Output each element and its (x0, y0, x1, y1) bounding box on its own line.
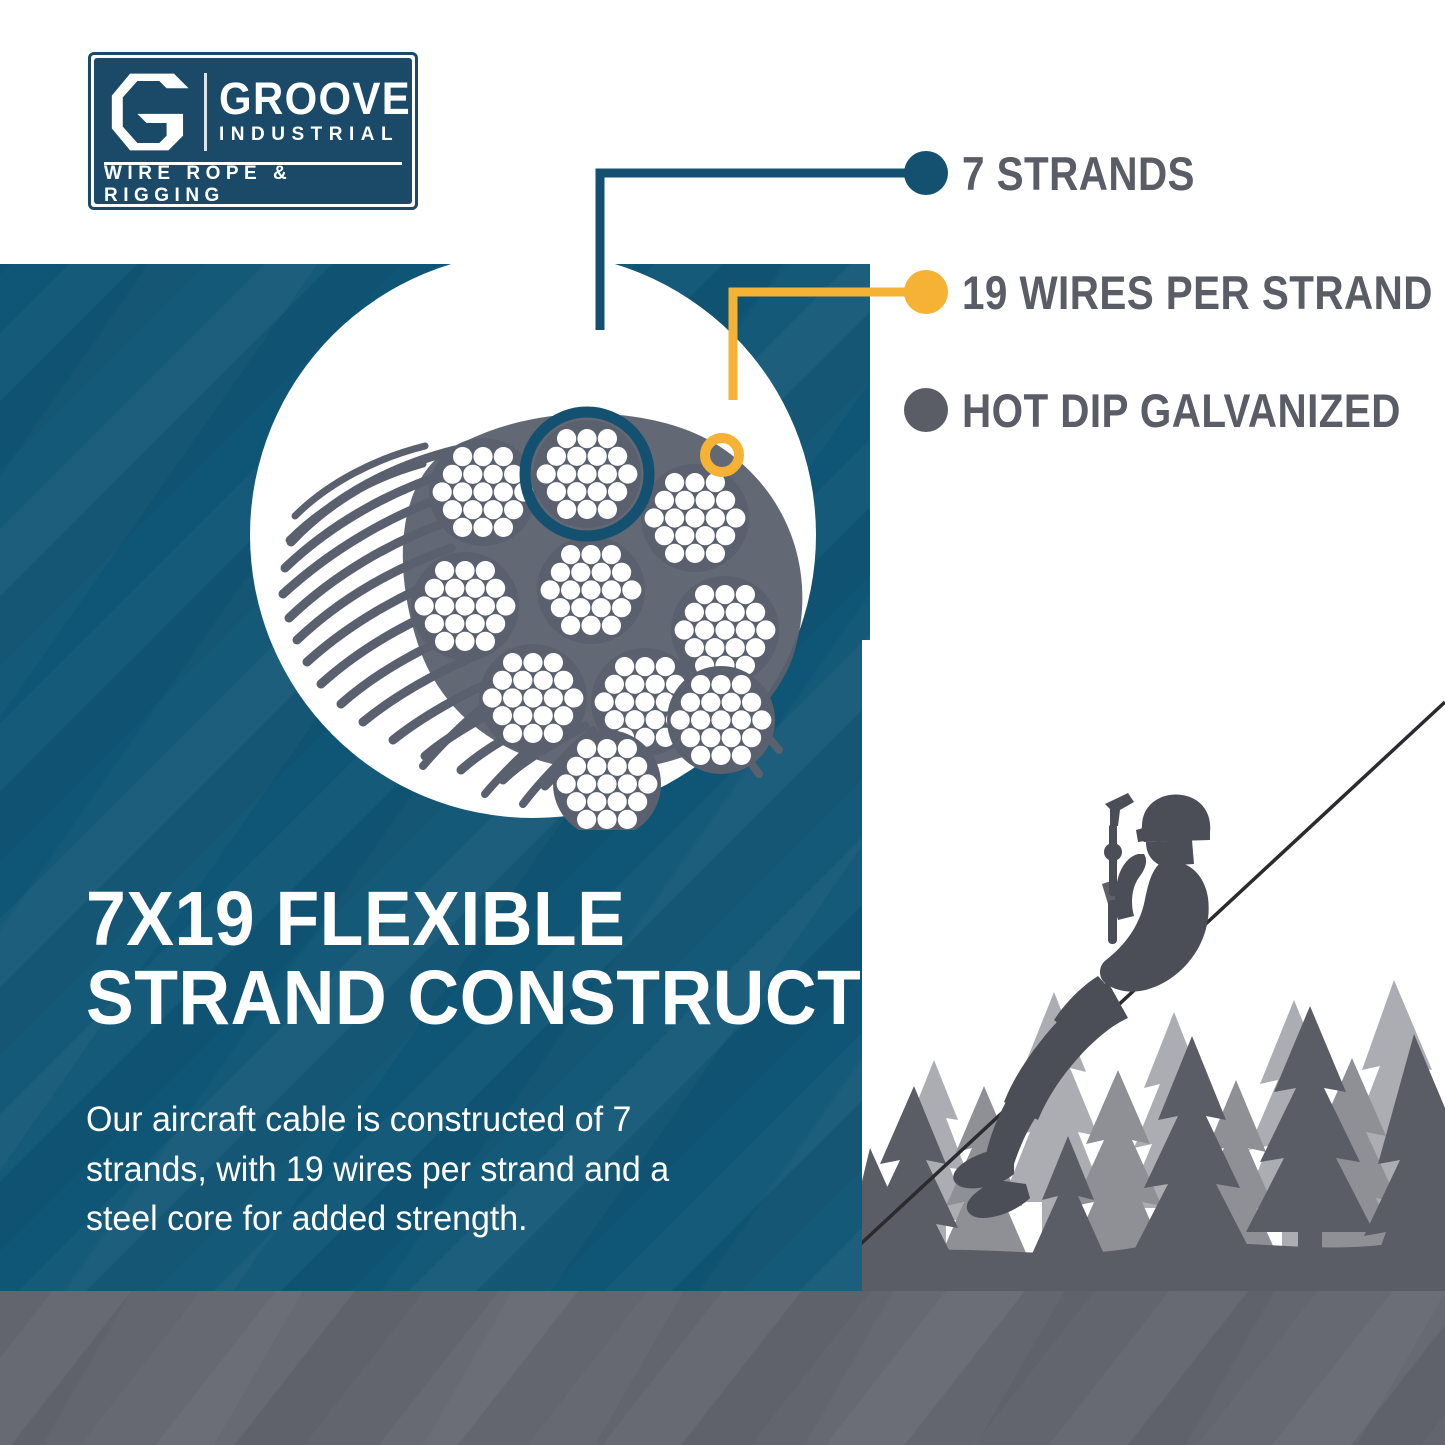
callout-label-wires-per-strand: 19 WIRES PER STRAND (962, 265, 1433, 320)
logo-wordmark: GROOVE INDUSTRIAL (219, 78, 426, 146)
bottom-gray-bar (0, 1291, 1445, 1445)
logo-brand-subtitle: INDUSTRIAL (219, 124, 426, 146)
bottom-bar-stripe-texture-secondary (0, 1291, 1445, 1445)
logo-top-row: GROOVE INDUSTRIAL (104, 66, 402, 158)
callout-strands[interactable]: 7 STRANDS (962, 148, 1233, 198)
headline-line-1: 7X19 FLEXIBLE (86, 880, 793, 959)
logo-tagline-bar: WIRE ROPE & RIGGING (104, 170, 402, 200)
callout-hot-dip-galvanized[interactable]: HOT DIP GALVANIZED (962, 385, 1445, 435)
callout-label-hot-dip-galvanized: HOT DIP GALVANIZED (962, 383, 1401, 438)
body-description: Our aircraft cable is constructed of 7 s… (86, 1095, 726, 1244)
logo-inner-panel: GROOVE INDUSTRIAL WIRE ROPE & RIGGING (94, 58, 412, 204)
callout-dot-wires[interactable] (904, 270, 948, 314)
zipline-scene-svg (862, 640, 1445, 1305)
logo-brand-name: GROOVE (219, 78, 411, 119)
wire-rope-svg (255, 250, 835, 830)
page-title: 7X19 FLEXIBLE STRAND CONSTRUCTION (86, 880, 793, 1039)
brand-logo[interactable]: GROOVE INDUSTRIAL WIRE ROPE & RIGGING (88, 52, 418, 210)
zipline-scene (862, 640, 1445, 1305)
groove-g-hexagon-icon (104, 70, 200, 154)
logo-divider (204, 73, 207, 151)
callout-dot-strands[interactable] (904, 151, 948, 195)
logo-tagline-text: WIRE ROPE & RIGGING (104, 163, 402, 207)
callout-dot-galvanized[interactable] (904, 388, 948, 432)
headline-line-2: STRAND CONSTRUCTION (86, 959, 793, 1038)
infographic-root: 7 STRANDS 19 WIRES PER STRAND HOT DIP GA… (0, 0, 1445, 1445)
callout-wires-per-strand[interactable]: 19 WIRES PER STRAND (962, 267, 1445, 317)
wire-rope-illustration (255, 250, 835, 830)
callout-label-strands: 7 STRANDS (962, 146, 1195, 201)
